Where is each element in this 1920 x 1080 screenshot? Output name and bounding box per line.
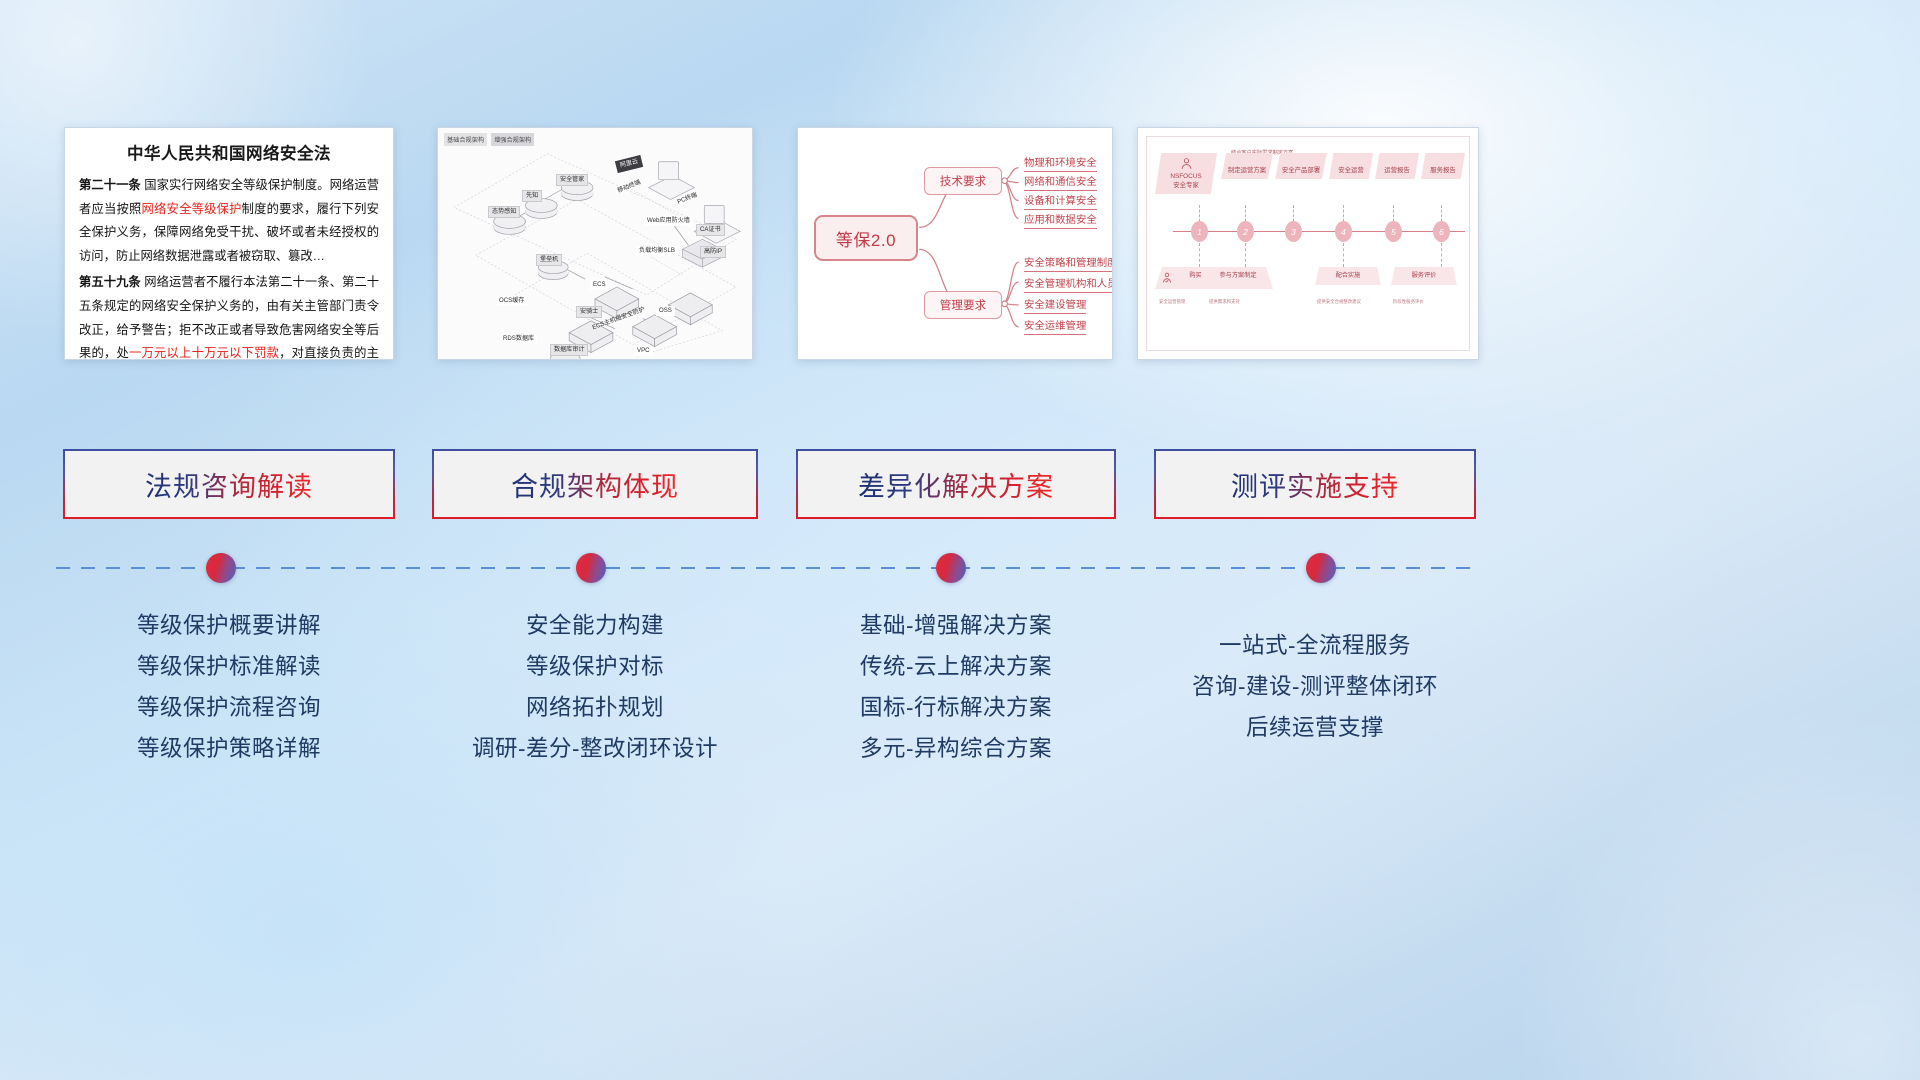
label-text-differentiated-solution: 差异化解决方案	[858, 465, 1054, 504]
list-item: 传统-云上解决方案	[796, 646, 1116, 687]
node-label-ocs-cache: OCS缓存	[496, 296, 527, 306]
nsfocus-subnote-2: 提供需求和支持	[1209, 299, 1240, 305]
label-text-compliance-architecture: 合规架构体现	[511, 465, 679, 504]
nsfocus-subnote-1: 安全运营管理	[1159, 299, 1185, 305]
list-item: 安全能力构建	[432, 605, 758, 646]
card-compliance-architecture: 基础合规架构 增强合规架构	[437, 127, 753, 360]
nsfocus-bottom-item-4: 服务评价	[1391, 267, 1457, 285]
mindmap-leaf-network-comm: 网络和通信安全	[1024, 173, 1097, 191]
nsfocus-expert-label: NSFOCUS 安全专家	[1160, 173, 1212, 190]
node-label-ecs: ECS	[590, 280, 609, 290]
list-item: 等级保护概要讲解	[63, 605, 395, 646]
mindmap-root-node: 等保2.0	[814, 215, 918, 261]
column-regulation-consulting: 等级保护概要讲解 等级保护标准解读 等级保护流程咨询 等级保护策略详解	[63, 605, 395, 769]
list-item: 国标-行标解决方案	[796, 687, 1116, 728]
label-box-differentiated-solution[interactable]: 差异化解决方案	[796, 449, 1116, 519]
node-label-xianzhi: 先知	[522, 190, 542, 202]
mindmap-branch-technical: 技术要求	[924, 167, 1002, 195]
list-item: 咨询-建设-测评整体闭环	[1154, 666, 1476, 707]
list-item: 网络拓扑规划	[432, 687, 758, 728]
nsfocus-step-4: 4	[1335, 221, 1352, 242]
list-item: 等级保护标准解读	[63, 646, 395, 687]
node-label-anqishi: 安骑士	[576, 306, 602, 318]
mindmap-branch-management: 管理要求	[924, 291, 1002, 319]
mindmap-leaf-device-compute: 设备和计算安全	[1024, 192, 1097, 210]
law-article-21: 第二十一条 国家实行网络安全等级保护制度。网络运营者应当按照网络安全等级保护制度…	[79, 174, 379, 268]
node-label-slb: 负载均衡SLB	[636, 246, 678, 256]
nsfocus-top-item-1: 制定运营方案	[1221, 153, 1273, 179]
law-title: 中华人民共和国网络安全法	[79, 140, 379, 164]
nsfocus-frame: 结合客户实际需求制定方案 NSFOCUS 安全专家 制定运营方案 安全产品部署 …	[1146, 136, 1470, 351]
mindmap-leaf-ops-mgmt: 安全运维管理	[1024, 317, 1086, 335]
list-item: 等级保护对标	[432, 646, 758, 687]
nsfocus-connector-b1	[1199, 243, 1200, 267]
mindmap-leaf-app-data: 应用和数据安全	[1024, 211, 1097, 229]
mindmap-leaf-physical-env: 物理和环境安全	[1024, 154, 1097, 172]
list-item: 基础-增强解决方案	[796, 605, 1116, 646]
mindmap-leaf-policy-system: 安全策略和管理制度	[1024, 254, 1113, 272]
nsfocus-top-item-5: 服务报告	[1421, 153, 1465, 179]
timeline-dot-4	[1306, 553, 1336, 583]
nsfocus-step-3: 3	[1285, 221, 1302, 242]
column-compliance-architecture: 安全能力构建 等级保护对标 网络拓扑规划 调研-差分-整改闭环设计	[432, 605, 758, 769]
category-labels-row: 法规咨询解读 合规架构体现 差异化解决方案 测评实施支持	[0, 449, 1920, 521]
card-nsfocus-service-timeline: 结合客户实际需求制定方案 NSFOCUS 安全专家 制定运营方案 安全产品部署 …	[1137, 127, 1479, 360]
customer-person-icon	[1161, 272, 1173, 284]
nsfocus-subnote-3: 提供安全合规整改建议	[1317, 299, 1361, 305]
nsfocus-top-item-2: 安全产品部署	[1275, 153, 1327, 179]
node-label-anti-ddos: 高防IP	[700, 246, 726, 258]
nsfocus-expert-chip: NSFOCUS 安全专家	[1155, 153, 1217, 194]
mindmap-leaf-org-personnel: 安全管理机构和人员	[1024, 275, 1113, 293]
nsfocus-connector-b4	[1441, 243, 1442, 267]
label-text-regulation-consulting: 法规咨询解读	[145, 465, 313, 504]
list-item: 调研-差分-整改闭环设计	[432, 728, 758, 769]
list-item: 等级保护策略详解	[63, 728, 395, 769]
nsfocus-top-item-4: 运营报告	[1375, 153, 1419, 179]
nsfocus-bottom-item-1: 购买	[1189, 272, 1201, 279]
mindmap-leaf-construction-mgmt: 安全建设管理	[1024, 296, 1086, 314]
nsfocus-connector-b2	[1245, 243, 1246, 267]
nsfocus-axis-line	[1173, 231, 1465, 232]
law-document: 中华人民共和国网络安全法 第二十一条 国家实行网络安全等级保护制度。网络运营者应…	[65, 128, 393, 359]
column-assessment-support: 一站式-全流程服务 咨询-建设-测评整体闭环 后续运营支撑	[1154, 605, 1476, 748]
node-label-waf: Web应用防火墙	[644, 216, 693, 226]
nsfocus-step-2: 2	[1237, 221, 1254, 242]
timeline-dot-1	[206, 553, 236, 583]
timeline-dashed-line	[56, 567, 1473, 569]
article-21-highlight: 网络安全等级保护	[142, 202, 242, 216]
nsfocus-connector-b3	[1343, 243, 1344, 267]
node-label-security-steward: 安全管家	[556, 174, 588, 186]
reference-cards-row: 中华人民共和国网络安全法 第二十一条 国家实行网络安全等级保护制度。网络运营者应…	[0, 127, 1920, 362]
card-cybersecurity-law: 中华人民共和国网络安全法 第二十一条 国家实行网络安全等级保护制度。网络运营者应…	[64, 127, 394, 360]
architecture-diagram: 基础合规架构 增强合规架构	[438, 128, 752, 359]
list-item: 后续运营支撑	[1154, 707, 1476, 748]
list-item: 多元-异构综合方案	[796, 728, 1116, 769]
nsfocus-customer-chip: 购买 参与方案制定	[1155, 267, 1273, 289]
nsfocus-bottom-item-3: 配合实施	[1315, 267, 1381, 285]
node-label-bastion-host: 堡垒机	[536, 254, 562, 266]
node-label-oss: OSS	[656, 306, 675, 316]
article-59-penalty-1: 一万元以上十万元以下罚款	[129, 346, 279, 360]
nsfocus-step-1: 1	[1191, 221, 1208, 242]
node-label-rds: RDS数据库	[500, 334, 537, 344]
label-box-compliance-architecture[interactable]: 合规架构体现	[432, 449, 758, 519]
node-label-situation-awareness: 态势感知	[488, 206, 520, 218]
nsfocus-timeline: 结合客户实际需求制定方案 NSFOCUS 安全专家 制定运营方案 安全产品部署 …	[1138, 128, 1478, 359]
expert-person-icon	[1180, 157, 1193, 170]
list-item: 等级保护流程咨询	[63, 687, 395, 728]
label-box-regulation-consulting[interactable]: 法规咨询解读	[63, 449, 395, 519]
timeline-dot-3	[936, 553, 966, 583]
nsfocus-subnote-4: 阶段性服务评价	[1393, 299, 1424, 305]
node-label-db-audit: 数据库审计	[550, 344, 588, 356]
nsfocus-step-6: 6	[1433, 221, 1450, 242]
slide-canvas: 中华人民共和国网络安全法 第二十一条 国家实行网络安全等级保护制度。网络运营者应…	[0, 0, 1920, 1080]
nsfocus-step-5: 5	[1385, 221, 1402, 242]
mindmap: 等保2.0 技术要求 物理和环境安全 网络和通信安全 设备和计算安全 应用和数据…	[798, 128, 1112, 359]
article-59-number: 第五十九条	[79, 275, 141, 289]
nsfocus-bottom-item-2: 参与方案制定	[1219, 272, 1256, 279]
article-21-number: 第二十一条	[79, 178, 141, 192]
label-box-assessment-support[interactable]: 测评实施支持	[1154, 449, 1476, 519]
law-article-59: 第五十九条 网络运营者不履行本法第二十一条、第二十五条规定的网络安全保护义务的，…	[79, 271, 379, 360]
column-differentiated-solution: 基础-增强解决方案 传统-云上解决方案 国标-行标解决方案 多元-异构综合方案	[796, 605, 1116, 769]
timeline-dot-2	[576, 553, 606, 583]
nsfocus-top-item-3: 安全运营	[1329, 153, 1373, 179]
card-dengbao-mindmap: 等保2.0 技术要求 物理和环境安全 网络和通信安全 设备和计算安全 应用和数据…	[797, 127, 1113, 360]
node-label-vpc: VPC	[634, 346, 653, 356]
label-text-assessment-support: 测评实施支持	[1231, 465, 1399, 504]
node-label-ca-cert: CA证书	[696, 224, 725, 236]
list-item: 一站式-全流程服务	[1154, 625, 1476, 666]
